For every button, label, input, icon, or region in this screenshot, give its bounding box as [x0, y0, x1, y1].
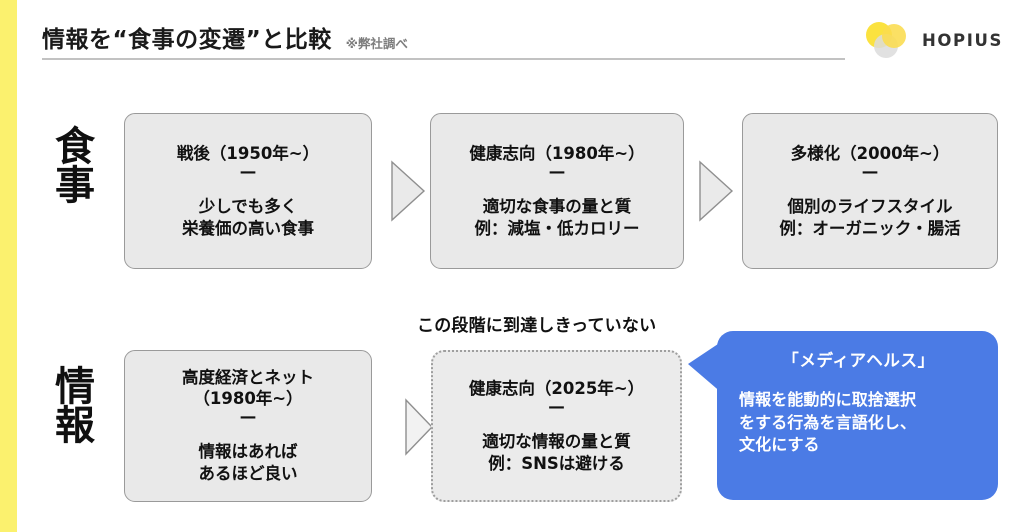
circle-amber-icon: [882, 24, 906, 48]
stage-dash: —: [240, 408, 257, 427]
stage-body-line: 例：減塩・低カロリー: [475, 218, 640, 240]
row-label-info: 情 報: [44, 368, 106, 446]
triangle-right-icon: [404, 398, 434, 460]
row-label-food-char-2: 事: [44, 167, 106, 206]
stage-body: 適切な情報の量と質 例：SNSは避ける: [482, 431, 631, 475]
brand-logo: HOPIUS: [866, 18, 1006, 62]
stage-heading: 高度経済とネット （1980年~）: [182, 367, 314, 409]
stage-body-line: 栄養価の高い食事: [182, 218, 314, 240]
title-divider: [42, 58, 845, 60]
slide-header: 情報を“食事の変遷”と比較 ※弊社調べ: [42, 18, 852, 52]
callout-body-line: 文化にする: [739, 434, 978, 457]
stage-body-line: 適切な情報の量と質: [482, 431, 631, 453]
stage-heading-line: （1980年~）: [182, 388, 314, 409]
stage-body-line: 例：オーガニック・腸活: [779, 218, 960, 240]
stage-heading: 健康志向（1980年~）: [469, 143, 644, 164]
slide-canvas: 情報を“食事の変遷”と比較 ※弊社調べ HOPIUS 食 事 戦後（1950年~…: [0, 0, 1024, 532]
stage-body-line: あるほど良い: [199, 463, 298, 485]
page-subtitle: ※弊社調べ: [346, 38, 408, 53]
left-accent-bar: [0, 0, 17, 532]
stage-body: 個別のライフスタイル 例：オーガニック・腸活: [779, 196, 960, 240]
logo-wordmark: HOPIUS: [922, 31, 1003, 50]
stage-heading: 多様化（2000年~）: [791, 143, 950, 164]
row-label-info-char-1: 情: [44, 368, 106, 407]
stage-body-line: 個別のライフスタイル: [779, 196, 960, 218]
stage-body-line: 例：SNSは避ける: [482, 453, 631, 475]
stage-dash: —: [862, 163, 879, 182]
stage-body: 情報はあれば あるほど良い: [199, 441, 298, 485]
callout-title: 「メディアヘルス」: [739, 351, 978, 371]
stage-box-food-3: 多様化（2000年~） — 個別のライフスタイル 例：オーガニック・腸活: [742, 113, 998, 269]
stage-dash: —: [549, 163, 566, 182]
row-label-food-char-1: 食: [44, 128, 106, 167]
triangle-right-icon: [698, 160, 734, 226]
stage-box-info-1: 高度経済とネット （1980年~） — 情報はあれば あるほど良い: [124, 350, 372, 502]
stage-heading-line: 高度経済とネット: [182, 367, 314, 388]
callout-body-line: をする行為を言語化し、: [739, 412, 978, 435]
stage-body-line: 少しでも多く: [182, 196, 314, 218]
triangle-right-icon: [390, 160, 426, 226]
stage-box-info-2: 健康志向（2025年~） — 適切な情報の量と質 例：SNSは避ける: [431, 350, 682, 502]
stage-body-line: 適切な食事の量と質: [475, 196, 640, 218]
stage-body-line: 情報はあれば: [199, 441, 298, 463]
stage-box-food-1: 戦後（1950年~） — 少しでも多く 栄養価の高い食事: [124, 113, 372, 269]
callout-body: 情報を能動的に取捨選択 をする行為を言語化し、 文化にする: [739, 389, 978, 457]
stage-body: 適切な食事の量と質 例：減塩・低カロリー: [475, 196, 640, 240]
row-label-info-char-2: 報: [44, 407, 106, 446]
row-label-food: 食 事: [44, 128, 106, 206]
stage-annotation: この段階に到達しきっていない: [417, 311, 656, 336]
stage-box-food-2: 健康志向（1980年~） — 適切な食事の量と質 例：減塩・低カロリー: [430, 113, 684, 269]
callout-body-line: 情報を能動的に取捨選択: [739, 389, 978, 412]
logo-marks: [866, 20, 920, 60]
callout-bubble: 「メディアヘルス」 情報を能動的に取捨選択 をする行為を言語化し、 文化にする: [717, 331, 998, 500]
stage-heading: 健康志向（2025年~）: [469, 378, 644, 399]
page-title: 情報を“食事の変遷”と比較: [42, 29, 332, 52]
stage-body: 少しでも多く 栄養価の高い食事: [182, 196, 314, 240]
stage-heading: 戦後（1950年~）: [177, 143, 319, 164]
stage-dash: —: [548, 398, 565, 417]
stage-dash: —: [240, 163, 257, 182]
